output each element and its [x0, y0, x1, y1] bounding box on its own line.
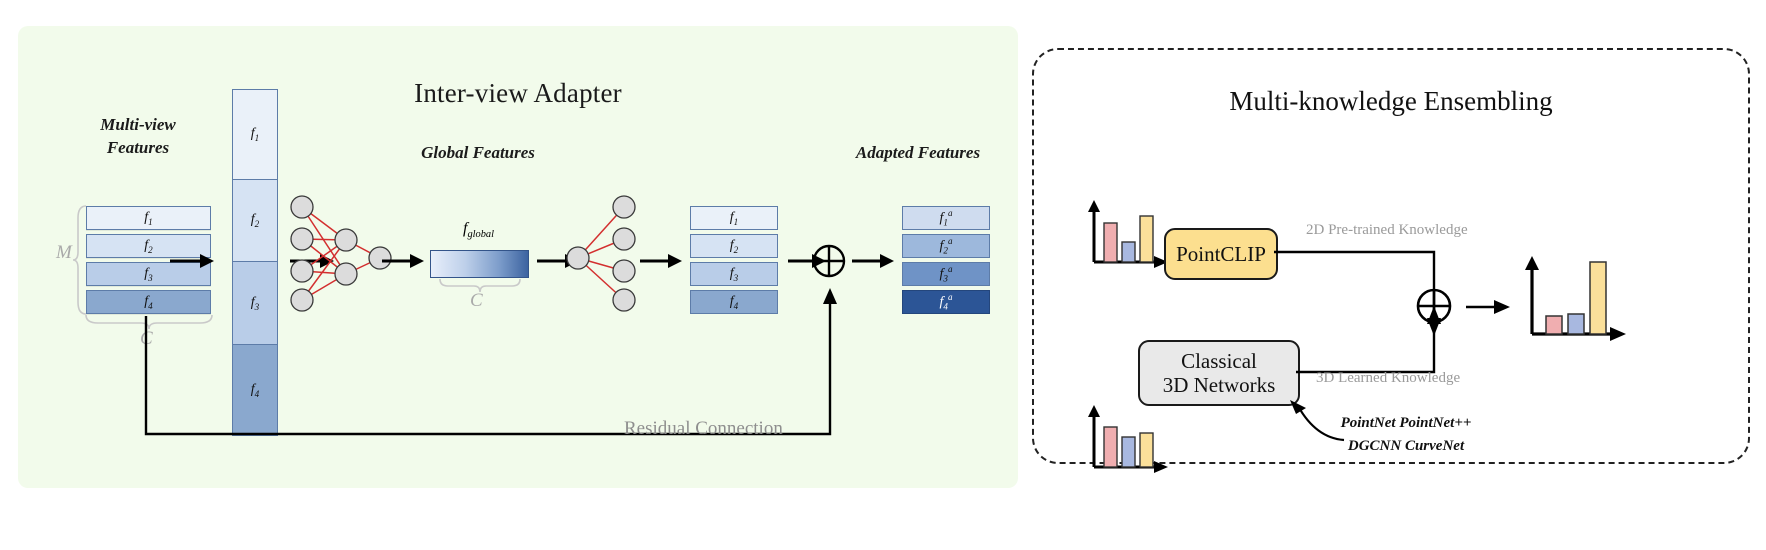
adapted-feature-stack: f1a f2a f3a f4a	[902, 206, 990, 318]
feature-bar-f1-label: f1	[144, 210, 152, 227]
multi-knowledge-ensembling-panel: Multi-knowledge Ensembling PointCLIP 2D …	[1032, 48, 1750, 464]
concat-segment-f1-label: f1	[251, 126, 259, 143]
arrow-right-icon-1	[170, 251, 216, 271]
right-panel-title: Multi-knowledge Ensembling	[1034, 86, 1748, 117]
classical-3d-label-line2: 3D Networks	[1163, 373, 1276, 397]
adapted-bar-f2-label: f2a	[940, 236, 953, 255]
adapted-bar-f3-label: f3a	[940, 264, 953, 283]
decoded-bar-f2-label: f2	[730, 238, 738, 255]
feature-bar-f1: f1	[86, 206, 211, 230]
arrow-right-icon-ensemble	[1466, 297, 1512, 317]
classical-3d-label-line1: Classical	[1181, 349, 1257, 373]
residual-connection-label: Residual Connection	[624, 418, 783, 440]
network-names-line1: PointNet PointNet++	[1341, 415, 1472, 431]
feature-bar-f2-label: f2	[144, 238, 152, 255]
adapted-features-label: Adapted Features	[808, 142, 1028, 165]
bar-chart-classical3d-input	[1084, 405, 1170, 479]
network-names-line2: DGCNN CurveNet	[1348, 438, 1464, 454]
concat-segment-f2-label: f2	[251, 212, 259, 229]
adapted-bar-f1: f1a	[902, 206, 990, 230]
bar-chart-ensembled-output	[1520, 254, 1630, 350]
adapted-bar-f4: f4a	[902, 290, 990, 314]
inter-view-adapter-panel: Inter-view Adapter Multi-view Features M…	[18, 26, 1018, 488]
arrow-right-icon-3	[382, 251, 426, 271]
multi-view-features-label: Multi-view Features	[48, 114, 228, 160]
arrow-right-icon-7	[852, 251, 896, 271]
adapted-bar-f2: f2a	[902, 234, 990, 258]
adapted-bar-f1-label: f1a	[940, 208, 953, 227]
label-3d-learned-knowledge: 3D Learned Knowledge	[1316, 370, 1460, 387]
decoded-bar-f1: f1	[690, 206, 778, 230]
decoded-bar-f2: f2	[690, 234, 778, 258]
dimension-label-M: M	[56, 242, 72, 264]
global-feature-symbol: fglobal	[430, 220, 527, 240]
pointclip-label: PointCLIP	[1176, 242, 1266, 266]
label-2d-pretrained-knowledge: 2D Pre-trained Knowledge	[1306, 222, 1468, 239]
classical-network-names: PointNet PointNet++ DGCNN CurveNet	[1306, 412, 1506, 457]
concat-segment-f2: f2	[233, 180, 277, 263]
ensemble-add-operator-icon	[1406, 278, 1462, 334]
mv-label-line1: Multi-view	[100, 115, 176, 134]
arrow-right-icon-5	[640, 251, 684, 271]
bar-chart-pointclip-input	[1084, 200, 1170, 274]
global-feature-subscript: global	[467, 229, 494, 240]
decoded-bar-f1-label: f1	[730, 210, 738, 227]
diagram-canvas: Inter-view Adapter Multi-view Features M…	[0, 0, 1766, 550]
page-title: Inter-view Adapter	[18, 78, 1018, 109]
global-features-label: Global Features	[388, 142, 568, 165]
pointclip-box[interactable]: PointCLIP	[1164, 228, 1278, 280]
adapted-bar-f4-label: f4a	[940, 292, 953, 311]
classical-3d-networks-box[interactable]: Classical 3D Networks	[1138, 340, 1300, 406]
mv-label-line2: Features	[107, 138, 169, 157]
adapted-bar-f3: f3a	[902, 262, 990, 286]
concat-segment-f1: f1	[233, 90, 277, 180]
